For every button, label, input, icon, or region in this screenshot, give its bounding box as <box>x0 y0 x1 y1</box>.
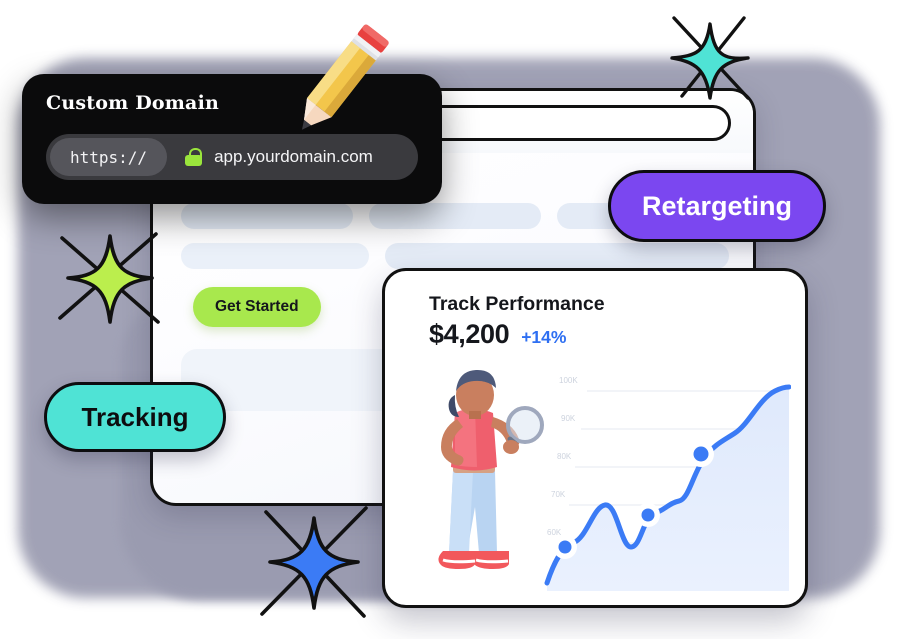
chart-ytick: 90K <box>561 414 576 423</box>
badge-retargeting[interactable]: Retargeting <box>608 170 826 242</box>
perf-card-title: Track Performance <box>429 293 605 316</box>
chart-marker <box>688 441 714 467</box>
lock-icon <box>185 148 202 166</box>
skeleton-placeholder <box>181 203 353 229</box>
chart-ytick: 70K <box>551 490 566 499</box>
perf-value: $4,200 <box>429 319 509 350</box>
illustration-stage: urbrand/store Get Started Custom Domain … <box>0 0 920 639</box>
badge-tracking[interactable]: Tracking <box>44 382 226 452</box>
skeleton-placeholder <box>369 203 541 229</box>
star-icon <box>248 492 382 632</box>
chart-marker <box>553 535 577 559</box>
pencil-icon <box>286 14 396 144</box>
get-started-button[interactable]: Get Started <box>193 287 321 327</box>
skeleton-placeholder <box>385 243 729 269</box>
performance-chart: 100K 90K 80K 70K 60K <box>543 369 791 595</box>
perf-delta-badge: +14% <box>521 327 566 348</box>
chart-ytick: 80K <box>557 452 572 461</box>
perf-metric-row: $4,200 +14% <box>429 319 566 350</box>
track-performance-card: Track Performance $4,200 +14% <box>382 268 808 608</box>
person-illustration <box>407 367 557 593</box>
custom-domain-value: app.yourdomain.com <box>214 147 373 167</box>
chart-marker <box>636 503 660 527</box>
skeleton-placeholder <box>181 243 369 269</box>
custom-domain-title: Custom Domain <box>46 92 219 114</box>
star-icon <box>652 2 772 114</box>
star-icon <box>48 212 176 344</box>
url-scheme-pill[interactable]: https:// <box>50 138 167 176</box>
chart-ytick: 60K <box>547 528 562 537</box>
chart-ytick: 100K <box>559 376 578 385</box>
